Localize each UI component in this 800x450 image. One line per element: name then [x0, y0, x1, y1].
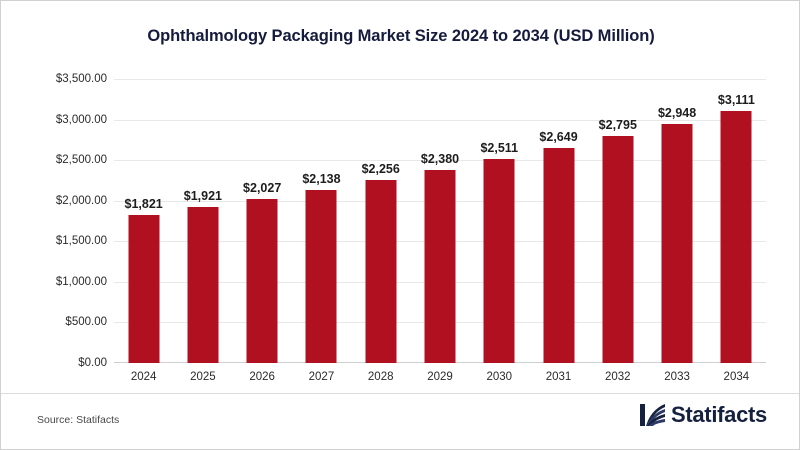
x-axis-tick-label: 2026	[249, 371, 275, 383]
y-axis-tick-label: $1,000.00	[7, 276, 107, 288]
bar[interactable]	[365, 180, 396, 363]
bar[interactable]	[602, 136, 633, 363]
bar-group: $2,3802029	[410, 79, 469, 363]
y-axis-tick-label: $2,000.00	[7, 195, 107, 207]
bar-group: $1,8212024	[114, 79, 173, 363]
brand-logo: Statifacts	[640, 403, 767, 427]
x-axis-tick-label: 2033	[664, 371, 690, 383]
plot-area: $1,8212024$1,9212025$2,0272026$2,1382027…	[114, 79, 766, 363]
y-axis-tick-label: $1,500.00	[7, 235, 107, 247]
bar[interactable]	[424, 170, 455, 363]
x-axis-tick-label: 2025	[190, 371, 216, 383]
bar[interactable]	[721, 111, 752, 363]
bar-group: $2,6492031	[529, 79, 588, 363]
bar-value-label: $2,256	[362, 162, 400, 176]
bar-group: $2,0272026	[233, 79, 292, 363]
bar-group: $2,1382027	[292, 79, 351, 363]
bar[interactable]	[543, 148, 574, 363]
x-axis-tick-label: 2029	[427, 371, 453, 383]
bar-group: $2,9482033	[647, 79, 706, 363]
x-axis-tick-label: 2028	[368, 371, 394, 383]
bar[interactable]	[484, 159, 515, 363]
statifacts-fan-logo-icon	[640, 403, 666, 427]
y-axis-tick-label: $0.00	[7, 357, 107, 369]
bar[interactable]	[187, 207, 218, 363]
bar-value-label: $3,111	[718, 93, 755, 107]
chart-figure: Ophthalmology Packaging Market Size 2024…	[0, 0, 800, 450]
bar[interactable]	[247, 199, 278, 363]
y-axis-tick-label: $3,500.00	[7, 73, 107, 85]
x-axis-tick-label: 2031	[546, 371, 572, 383]
y-axis-tick-label: $2,500.00	[7, 154, 107, 166]
brand-name: Statifacts	[671, 404, 767, 426]
bar-value-label: $1,821	[125, 197, 163, 211]
source-note: Source: Statifacts	[37, 414, 119, 426]
bar-value-label: $2,138	[302, 172, 340, 186]
bar-value-label: $2,795	[599, 118, 637, 132]
bar-value-label: $2,948	[658, 106, 696, 120]
bar-group: $3,1112034	[707, 79, 766, 363]
x-axis-tick-label: 2034	[724, 371, 750, 383]
footer-divider	[1, 393, 800, 394]
bar[interactable]	[662, 124, 693, 363]
bar-value-label: $2,511	[480, 141, 518, 155]
bar-value-label: $2,649	[539, 130, 577, 144]
x-axis-tick-label: 2024	[131, 371, 157, 383]
bar-value-label: $2,027	[243, 181, 281, 195]
y-axis: $0.00$500.00$1,000.00$1,500.00$2,000.00$…	[1, 79, 107, 363]
bar[interactable]	[128, 215, 159, 363]
bar-value-label: $2,380	[421, 152, 459, 166]
bar-group: $1,9212025	[173, 79, 232, 363]
x-axis-tick-label: 2032	[605, 371, 631, 383]
y-axis-tick-label: $500.00	[7, 316, 107, 328]
bar-group: $2,2562028	[351, 79, 410, 363]
chart-title: Ophthalmology Packaging Market Size 2024…	[1, 27, 800, 46]
bar-group: $2,5112030	[470, 79, 529, 363]
x-axis-tick-label: 2027	[309, 371, 335, 383]
x-axis-tick-label: 2030	[486, 371, 512, 383]
bar-group: $2,7952032	[588, 79, 647, 363]
y-axis-tick-label: $3,000.00	[7, 114, 107, 126]
bar[interactable]	[306, 190, 337, 363]
bar-value-label: $1,921	[184, 189, 222, 203]
